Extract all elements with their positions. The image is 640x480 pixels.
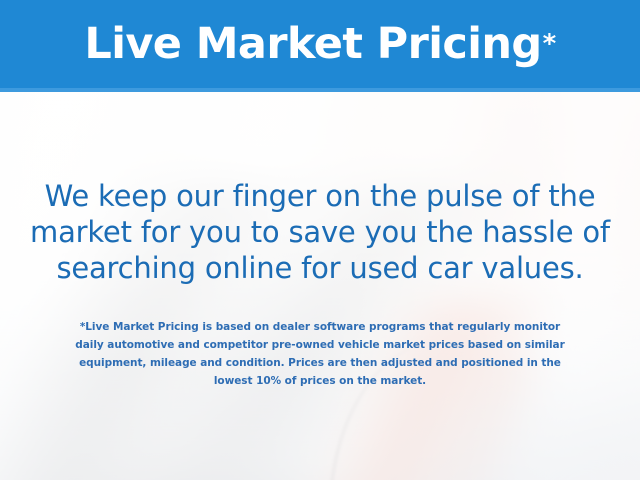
- disclaimer-line-3: equipment, mileage and condition. Prices…: [20, 354, 620, 372]
- headline-line-3: searching online for used car values.: [20, 250, 620, 286]
- headline-line-2: market for you to save you the hassle of: [20, 214, 620, 250]
- disclaimer-line-4: lowest 10% of prices on the market.: [20, 372, 620, 390]
- banner-title-asterisk: *: [543, 31, 556, 57]
- live-market-pricing-graphic: Live Market Pricing* We keep our finger …: [0, 0, 640, 480]
- disclaimer-line-1: *Live Market Pricing is based on dealer …: [20, 318, 620, 336]
- headline: We keep our finger on the pulse of the m…: [20, 178, 620, 286]
- disclaimer-line-2: daily automotive and competitor pre-owne…: [20, 336, 620, 354]
- banner-title: Live Market Pricing*: [0, 0, 640, 88]
- headline-line-1: We keep our finger on the pulse of the: [20, 178, 620, 214]
- header-banner-bottom-edge: [0, 88, 640, 92]
- disclaimer: *Live Market Pricing is based on dealer …: [20, 318, 620, 390]
- banner-title-text: Live Market Pricing: [84, 23, 541, 66]
